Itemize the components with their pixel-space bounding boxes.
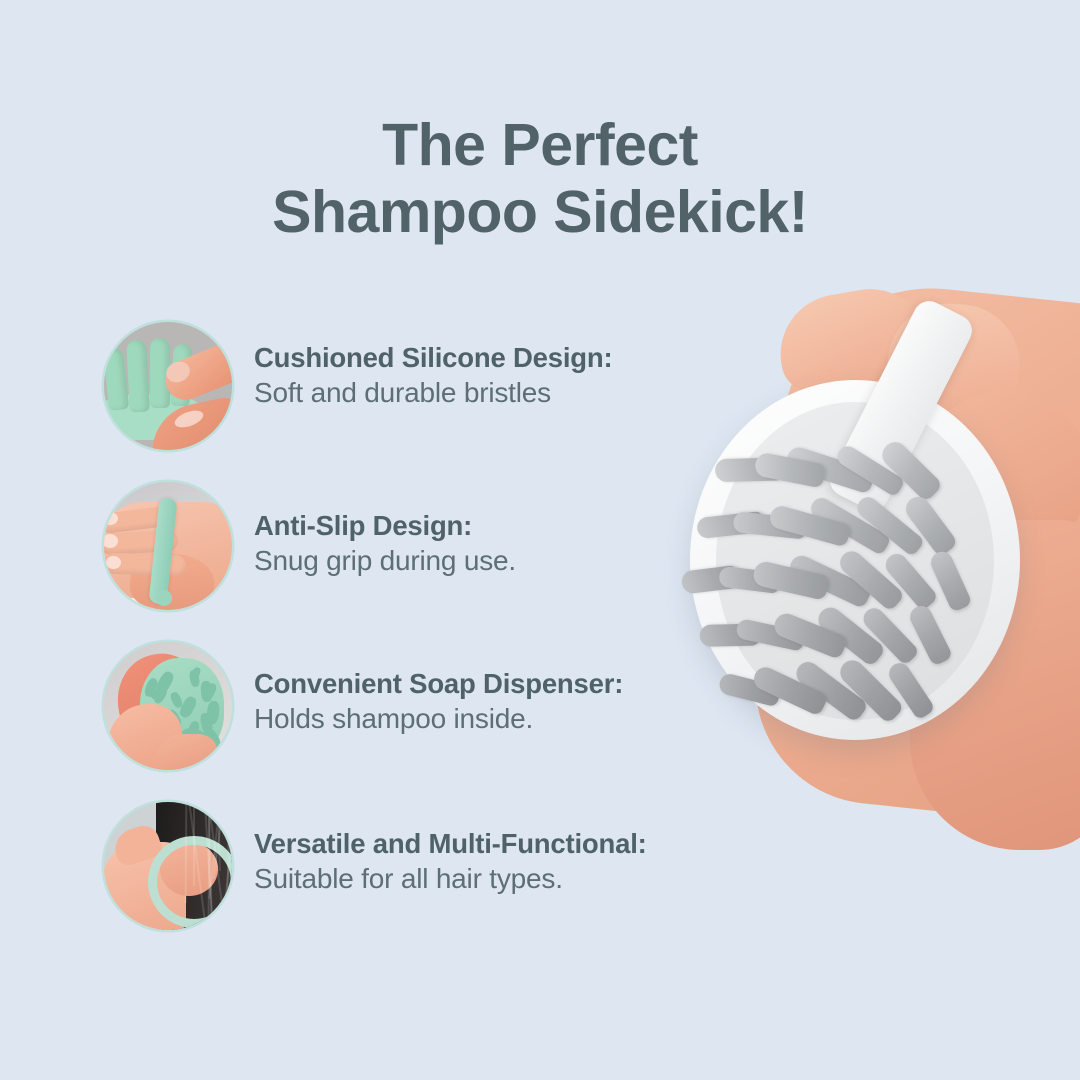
bristle-bump xyxy=(205,700,220,725)
page-title: The Perfect Shampoo Sidekick! xyxy=(0,112,1080,245)
bristle xyxy=(927,548,972,612)
bristle xyxy=(906,603,953,668)
feature-thumbnail-bristles-icon xyxy=(104,322,232,450)
page-title-line-2: Shampoo Sidekick! xyxy=(0,179,1080,246)
hero-product-image xyxy=(620,270,1080,930)
hair-strand xyxy=(184,802,187,903)
hair-strand xyxy=(193,802,195,886)
brush-bristles xyxy=(680,390,1010,770)
bristle-bump xyxy=(178,695,199,720)
feature-thumbnail-brush-head-icon xyxy=(104,642,232,770)
infographic-page: { "page": { "background_color": "#dde6f1… xyxy=(0,0,1080,1080)
feature-thumbnail-strap-grip-icon xyxy=(104,482,232,610)
feature-thumbnail-hair-use-icon xyxy=(104,802,232,930)
bristle-bump xyxy=(169,691,183,709)
page-title-line-1: The Perfect xyxy=(0,112,1080,179)
